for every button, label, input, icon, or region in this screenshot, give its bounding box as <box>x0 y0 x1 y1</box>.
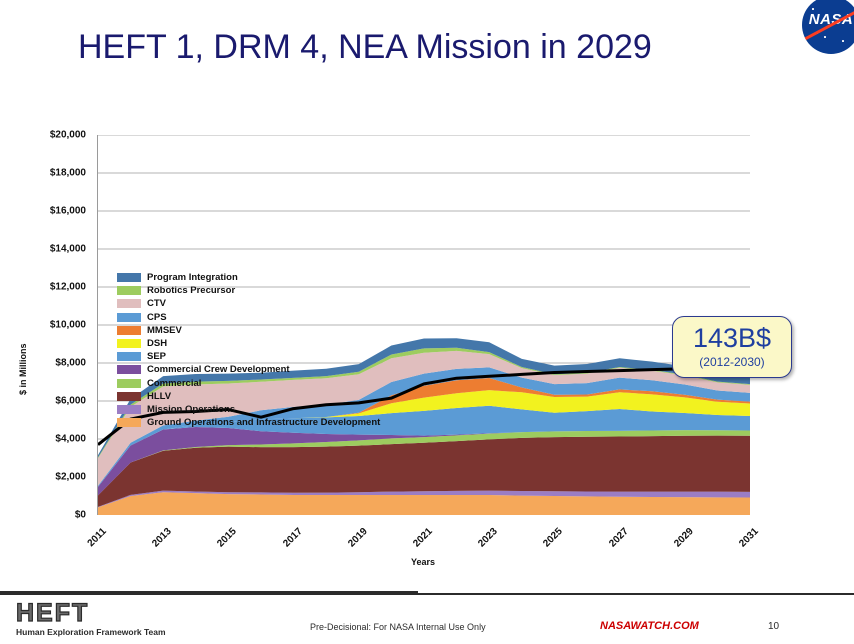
legend-item: DSH <box>117 337 380 350</box>
y-axis-tick-labels: $0$2,000$4,000$6,000$8,000$10,000$12,000… <box>28 125 86 525</box>
legend-label: HLLV <box>147 391 171 402</box>
legend-item: Commercial Crew Development <box>117 363 380 376</box>
legend-item: CPS <box>117 311 380 324</box>
chart-legend: Program IntegrationRobotics PrecursorCTV… <box>117 271 380 429</box>
legend-swatch-icon <box>117 418 141 427</box>
page-number: 10 <box>768 621 779 632</box>
y-tick-label: $0 <box>28 510 86 521</box>
chart-container: $ in Millions $0$2,000$4,000$6,000$8,000… <box>0 125 800 575</box>
legend-label: Mission Operations <box>147 404 235 415</box>
legend-item: Commercial <box>117 377 380 390</box>
legend-swatch-icon <box>117 326 141 335</box>
y-tick-label: $20,000 <box>28 130 86 141</box>
legend-swatch-icon <box>117 299 141 308</box>
legend-swatch-icon <box>117 405 141 414</box>
legend-item: Ground Operations and Infrastructure Dev… <box>117 416 380 429</box>
legend-swatch-icon <box>117 339 141 348</box>
y-tick-label: $8,000 <box>28 358 86 369</box>
legend-label: MMSEV <box>147 325 182 336</box>
page-title: HEFT 1, DRM 4, NEA Mission in 2029 <box>78 28 652 67</box>
callout-range: (2012-2030) <box>699 355 764 369</box>
y-tick-label: $10,000 <box>28 320 86 331</box>
heft-logo-mark: HEFT <box>16 600 191 626</box>
heft-logo-subtitle: Human Exploration Framework Team <box>16 627 191 637</box>
legend-item: HLLV <box>117 390 380 403</box>
legend-item: Mission Operations <box>117 403 380 416</box>
y-tick-label: $14,000 <box>28 244 86 255</box>
legend-label: Ground Operations and Infrastructure Dev… <box>147 417 380 428</box>
y-tick-label: $2,000 <box>28 472 86 483</box>
legend-item: MMSEV <box>117 324 380 337</box>
legend-label: Robotics Precursor <box>147 285 235 296</box>
legend-swatch-icon <box>117 352 141 361</box>
nasa-logo: NASA <box>802 0 854 54</box>
legend-swatch-icon <box>117 365 141 374</box>
legend-item: Robotics Precursor <box>117 284 380 297</box>
legend-swatch-icon <box>117 392 141 401</box>
y-tick-label: $18,000 <box>28 168 86 179</box>
nasawatch-watermark: NASAWATCH.COM <box>600 620 699 632</box>
legend-label: Commercial Crew Development <box>147 364 290 375</box>
footer-divider-left <box>0 591 418 595</box>
legend-item: SEP <box>117 350 380 363</box>
legend-label: Commercial <box>147 378 201 389</box>
legend-label: CPS <box>147 312 167 323</box>
y-axis-title: $ in Millions <box>18 381 28 395</box>
legend-label: SEP <box>147 351 166 362</box>
legend-swatch-icon <box>117 286 141 295</box>
legend-swatch-icon <box>117 379 141 388</box>
callout-value: 143B$ <box>693 325 771 352</box>
y-tick-label: $12,000 <box>28 282 86 293</box>
x-axis-title: Years <box>97 557 749 567</box>
legend-item: Program Integration <box>117 271 380 284</box>
legend-swatch-icon <box>117 273 141 282</box>
y-tick-label: $6,000 <box>28 396 86 407</box>
legend-label: Program Integration <box>147 272 238 283</box>
total-cost-callout: 143B$ (2012-2030) <box>672 316 792 378</box>
legend-label: CTV <box>147 298 166 309</box>
heft-logo: HEFT Human Exploration Framework Team <box>16 600 191 637</box>
footer-divider-right <box>418 593 854 595</box>
y-tick-label: $16,000 <box>28 206 86 217</box>
classification-notice: Pre-Decisional: For NASA Internal Use On… <box>310 622 486 632</box>
legend-swatch-icon <box>117 313 141 322</box>
y-tick-label: $4,000 <box>28 434 86 445</box>
legend-item: CTV <box>117 297 380 310</box>
legend-label: DSH <box>147 338 167 349</box>
